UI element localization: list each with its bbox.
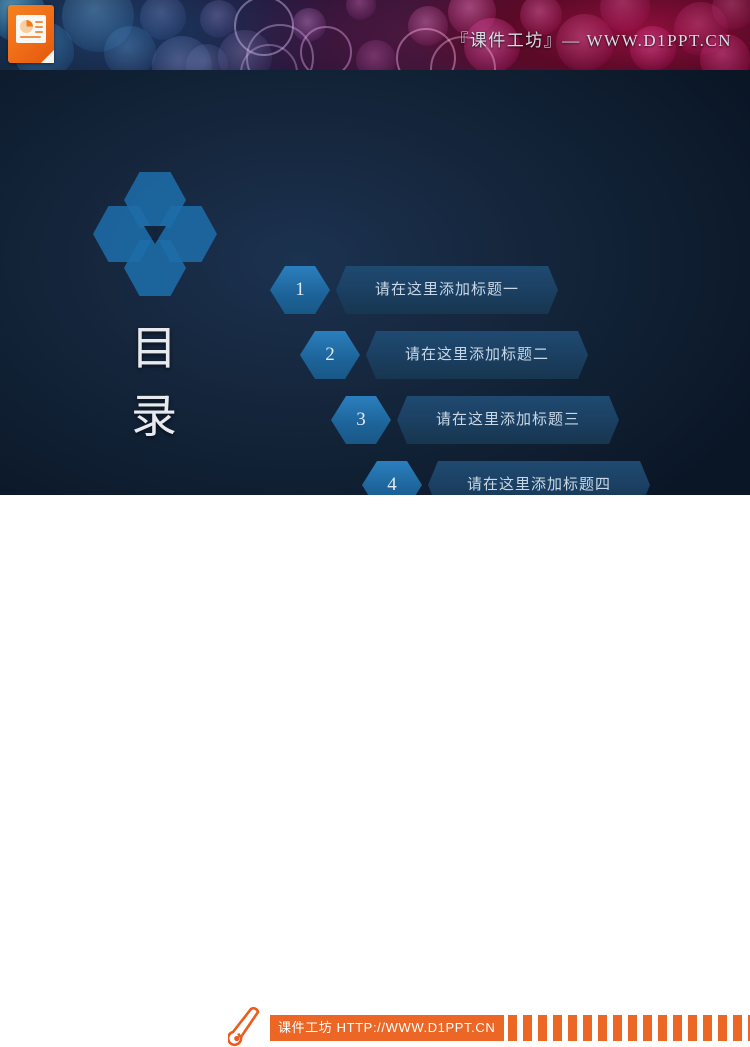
hexagon-cluster-icon [90, 170, 220, 290]
toc-label-3[interactable]: 请在这里添加标题三 [397, 396, 619, 444]
toc-number-badge-4[interactable]: 4 [362, 461, 422, 495]
logo-line [20, 36, 41, 38]
toc-label-1[interactable]: 请在这里添加标题一 [336, 266, 558, 314]
powerpoint-file-icon [8, 5, 54, 63]
slide-page: 『课件工坊』— WWW.D1PPT.CN 目 录 1 请在这里添加标题一 2 请… [0, 0, 750, 563]
pencil-icon [228, 1007, 264, 1047]
logo-line [35, 31, 43, 33]
toc-number-badge-3[interactable]: 3 [331, 396, 391, 444]
toc-label-4[interactable]: 请在这里添加标题四 [428, 461, 650, 495]
pie-chart-glyph [20, 20, 33, 33]
logo-corner-fold [41, 50, 54, 63]
title-char-mu: 目 [110, 315, 200, 383]
toc-number-badge-1[interactable]: 1 [270, 266, 330, 314]
logo-sheet [16, 15, 46, 43]
logo-line [35, 21, 43, 23]
toc-label-2[interactable]: 请在这里添加标题二 [366, 331, 588, 379]
footer-bar: 课件工坊 HTTP://WWW.D1PPT.CN [0, 495, 750, 563]
logo-line [35, 26, 43, 28]
vertical-stripes-icon [508, 1015, 750, 1041]
header-banner: 『课件工坊』— WWW.D1PPT.CN [0, 0, 750, 70]
slide-canvas: 目 录 1 请在这里添加标题一 2 请在这里添加标题二 3 请在这里添加标题三 … [0, 70, 750, 495]
footer-url-text: 课件工坊 HTTP://WWW.D1PPT.CN [278, 1015, 495, 1041]
page-title: 目 录 [110, 315, 200, 451]
footer-url-bar: 课件工坊 HTTP://WWW.D1PPT.CN [270, 1015, 504, 1041]
header-brand-text: 『课件工坊』— WWW.D1PPT.CN [451, 26, 732, 51]
title-char-lu: 录 [110, 383, 200, 451]
toc-number-badge-2[interactable]: 2 [300, 331, 360, 379]
